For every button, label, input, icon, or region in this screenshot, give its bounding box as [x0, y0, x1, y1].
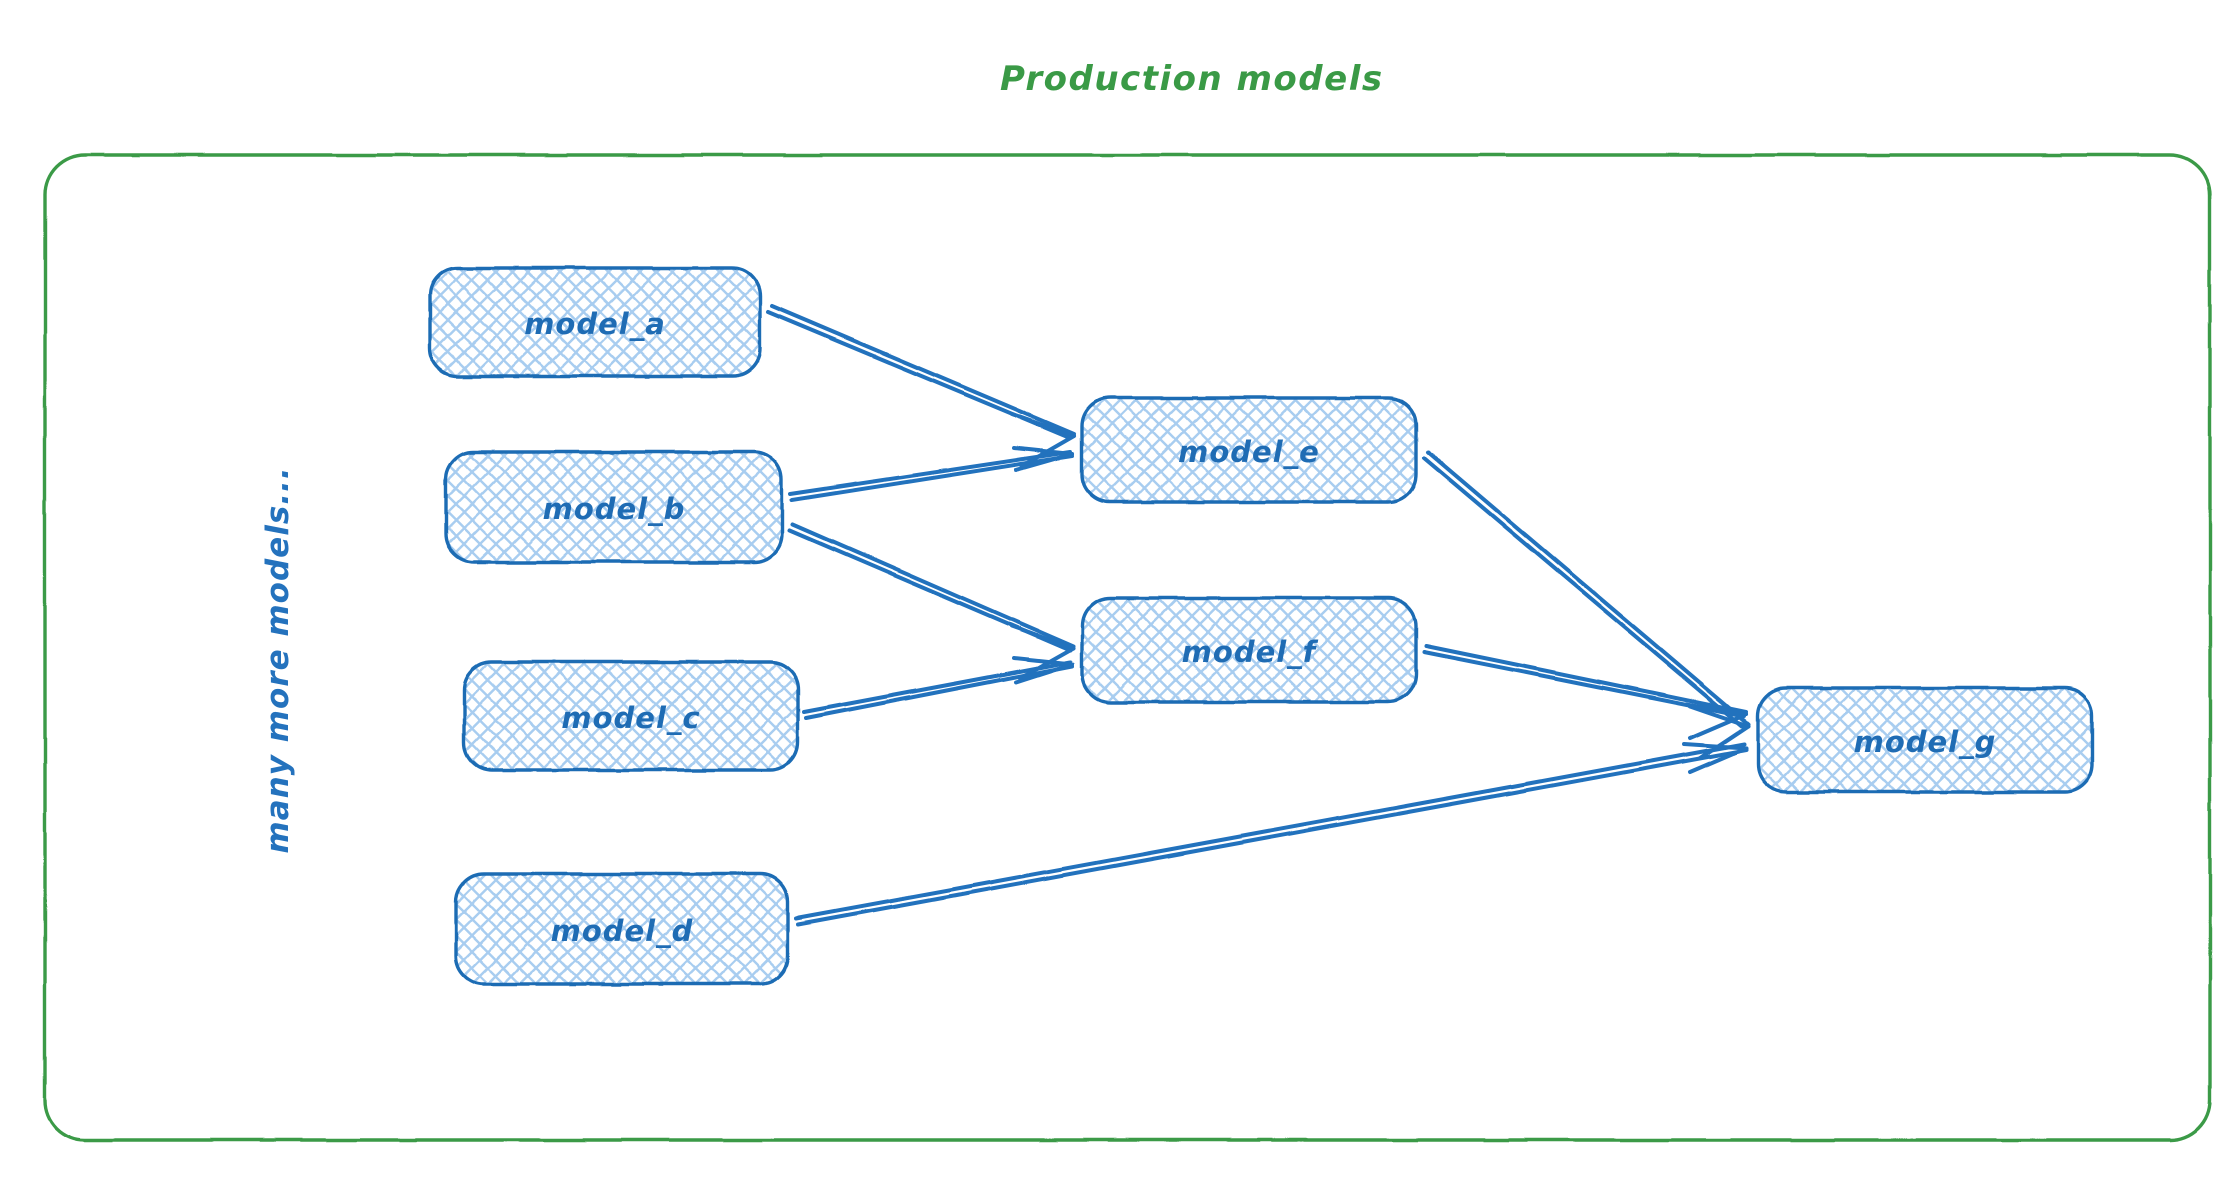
node-label-model_g: model_g [1854, 725, 1997, 759]
edge-model_e-to-model_g [1424, 452, 1748, 758]
diagram-canvas: Production models [0, 0, 2240, 1188]
node-label-model_b: model_b [543, 492, 686, 526]
node-model_d[interactable]: model_d [456, 874, 788, 984]
edge-model_a-to-model_e [768, 306, 1074, 466]
node-label-model_c: model_c [561, 701, 700, 735]
node-model_e[interactable]: model_e [1082, 398, 1416, 502]
edge-model_c-to-model_f [804, 658, 1072, 718]
edge-model_b-to-model_f [790, 524, 1073, 678]
many-more-models-annotation: many more models... [260, 466, 296, 853]
node-label-model_f: model_f [1182, 635, 1319, 669]
node-label-model_a: model_a [524, 307, 666, 341]
node-model_f[interactable]: model_f [1082, 598, 1416, 702]
production-models-diagram: Production models [0, 0, 2240, 1188]
node-model_c[interactable]: model_c [464, 662, 798, 770]
nodes-group: model_a model_b model_c model_d [430, 268, 2092, 984]
node-model_a[interactable]: model_a [430, 268, 760, 376]
annotation-label: many more models... [260, 466, 296, 853]
edge-model_b-to-model_b-e [790, 448, 1072, 500]
node-model_g[interactable]: model_g [1758, 688, 2092, 792]
node-model_b[interactable]: model_b [446, 452, 782, 562]
node-label-model_d: model_d [551, 914, 694, 948]
node-label-model_e: model_e [1178, 435, 1320, 469]
edge-model_f-to-model_g [1424, 646, 1746, 738]
page-title: Production models [1000, 59, 1384, 99]
edge-model_d-to-model_g [796, 744, 1746, 924]
